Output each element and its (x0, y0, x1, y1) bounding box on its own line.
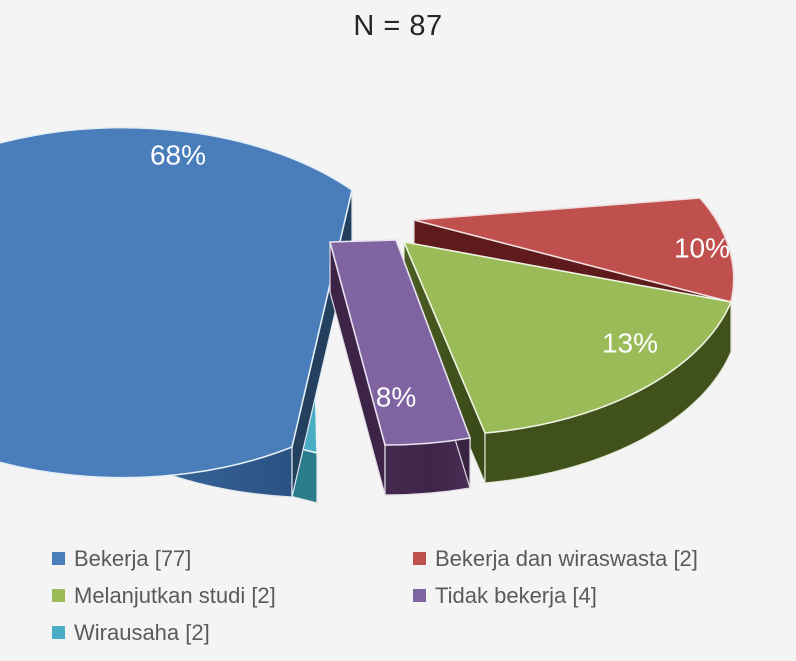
legend-label-bekerja: Bekerja [77] (74, 548, 191, 570)
legend-label-tidak-bekerja: Tidak bekerja [4] (435, 585, 597, 607)
legend-column-left: Bekerja [77] Melanjutkan studi [2] Wirau… (52, 540, 276, 651)
legend-column-right: Bekerja dan wiraswasta [2] Tidak bekerja… (413, 540, 698, 614)
legend-label-bekerja-wiraswasta: Bekerja dan wiraswasta [2] (435, 548, 698, 570)
legend-item-bekerja-wiraswasta[interactable]: Bekerja dan wiraswasta [2] (413, 540, 698, 577)
legend-swatch-bekerja-wiraswasta (413, 552, 426, 565)
pie-chart-figure: N = 87 (0, 0, 796, 661)
legend-item-bekerja[interactable]: Bekerja [77] (52, 540, 276, 577)
legend-label-wirausaha: Wirausaha [2] (74, 622, 210, 644)
pie-svg: 3% 68% 10% 13% (0, 60, 796, 530)
chart-title: N = 87 (0, 10, 796, 43)
legend-item-wirausaha[interactable]: Wirausaha [2] (52, 614, 276, 651)
legend-swatch-melanjutkan-studi (52, 589, 65, 602)
legend-swatch-bekerja (52, 552, 65, 565)
pie-plot-area: 3% 68% 10% 13% (0, 60, 796, 530)
pie-label-bekerja-wiraswasta: 10% (674, 232, 730, 263)
pie-slice-bekerja[interactable]: 68% (0, 128, 352, 497)
legend-swatch-wirausaha (52, 626, 65, 639)
legend-label-melanjutkan-studi: Melanjutkan studi [2] (74, 585, 276, 607)
pie-label-tidak-bekerja: 8% (376, 381, 416, 412)
chart-legend: Bekerja [77] Melanjutkan studi [2] Wirau… (0, 540, 796, 660)
pie-label-bekerja: 68% (150, 139, 206, 170)
legend-swatch-tidak-bekerja (413, 589, 426, 602)
legend-item-melanjutkan-studi[interactable]: Melanjutkan studi [2] (52, 577, 276, 614)
legend-item-tidak-bekerja[interactable]: Tidak bekerja [4] (413, 577, 698, 614)
pie-label-melanjutkan-studi: 13% (602, 327, 658, 358)
